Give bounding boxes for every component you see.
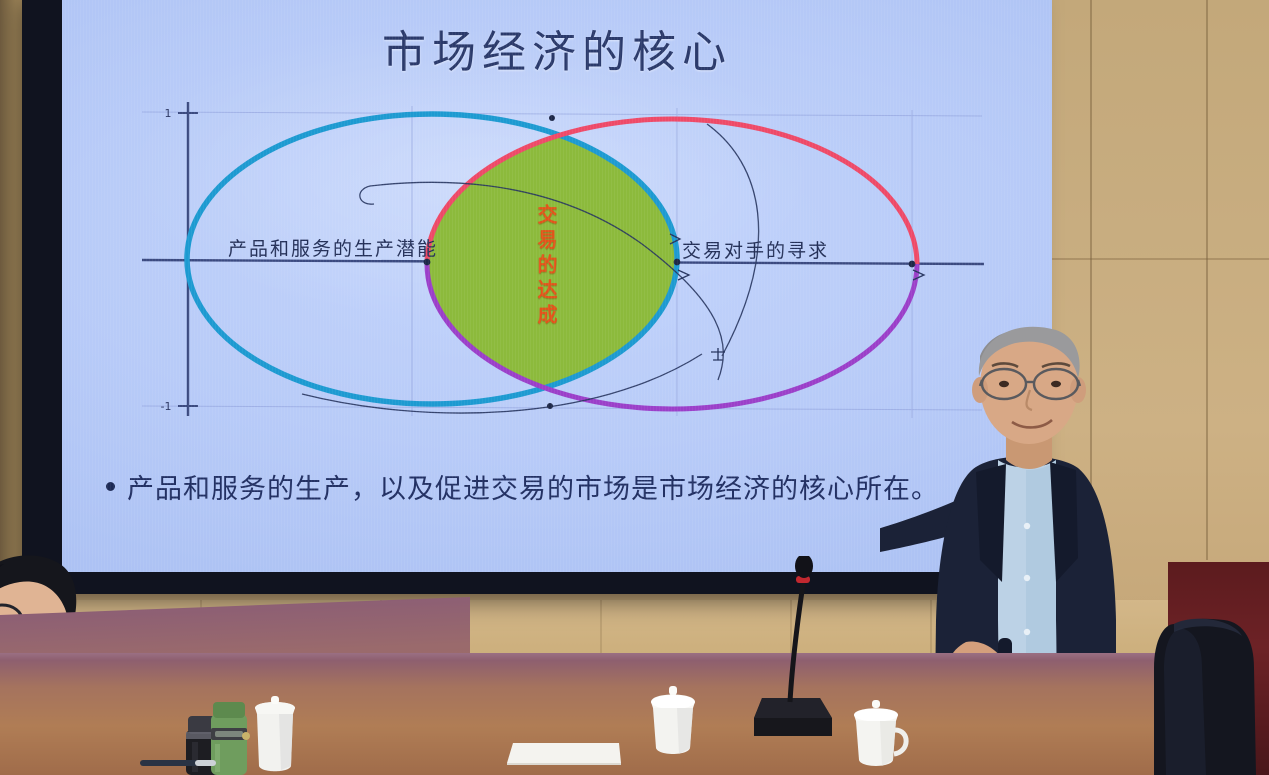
- slide-bullet-text: 产品和服务的生产，以及促进交易的市场是市场经济的核心所在。: [127, 467, 939, 506]
- screenshot-stage: 市场经济的核心: [0, 0, 1269, 775]
- diagram-label-left: 产品和服务的生产潜能: [228, 234, 438, 261]
- conference-microphone: [742, 556, 852, 746]
- axis-tick-bottom: -1: [161, 400, 172, 413]
- mic-gooseneck: [790, 578, 804, 702]
- diagram-label-right: 交易对手的寻求: [682, 236, 829, 263]
- bullet-point-icon: [106, 482, 115, 491]
- office-chair: [1150, 588, 1269, 775]
- diagram-label-center: 交易的达成: [532, 204, 561, 329]
- pen: [140, 757, 216, 769]
- name-card: [505, 741, 623, 765]
- teacup-right: [848, 700, 914, 770]
- slide-title: 市场经济的核心: [62, 16, 1052, 80]
- teacup-center: [645, 686, 701, 758]
- wall-seam: [1206, 0, 1208, 560]
- teacup-left-front: [249, 694, 301, 775]
- mic-capsule: [795, 556, 813, 578]
- axis-tick-top: 1: [165, 107, 172, 120]
